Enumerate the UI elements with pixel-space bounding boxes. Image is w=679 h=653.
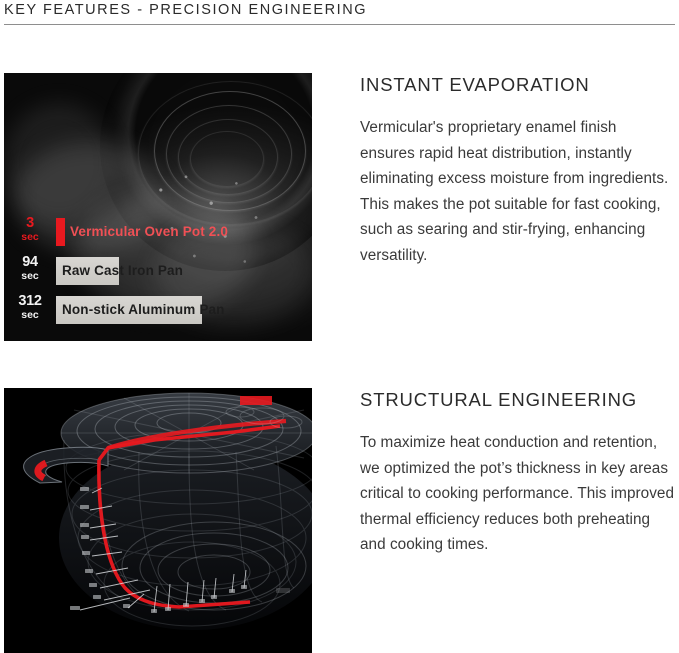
bar-label-aluminum: Non-stick Aluminum Pan — [62, 300, 225, 320]
bar-fill-vermicular — [56, 218, 65, 246]
feature-heading-structural-engineering: STRUCTURAL ENGINEERING — [360, 388, 675, 412]
cad-photo-backdrop — [4, 388, 312, 653]
page-title: KEY FEATURES - PRECISION ENGINEERING — [4, 1, 367, 19]
bar-value-unit: sec — [14, 310, 46, 321]
bar-row-aluminum: 312 sec Non-stick Aluminum Pan — [14, 294, 310, 328]
bar-track: Non-stick Aluminum Pan — [56, 296, 310, 324]
bar-label-vermicular: Vermicular Oven Pot 2.0 — [70, 222, 228, 242]
bar-value-unit: sec — [14, 232, 46, 243]
cad-wireframe-pot-diagram — [4, 388, 312, 653]
feature-body-instant-evaporation: Vermicular's proprietary enamel finish e… — [360, 115, 675, 269]
bar-value-aluminum: 312 sec — [14, 294, 46, 320]
feature-row-structural-engineering: STRUCTURAL ENGINEERING To maximize heat … — [0, 388, 679, 653]
bar-value-number: 94 — [14, 255, 46, 270]
feature-copy-structural-engineering: STRUCTURAL ENGINEERING To maximize heat … — [360, 388, 675, 558]
evaporation-time-bar-chart: 3 sec Vermicular Oven Pot 2.0 94 sec Raw… — [4, 213, 312, 335]
bar-value-number: 3 — [14, 216, 46, 231]
page-header: KEY FEATURES - PRECISION ENGINEERING — [4, 0, 675, 30]
bar-value-unit: sec — [14, 271, 46, 282]
bar-track: Vermicular Oven Pot 2.0 — [56, 218, 310, 246]
header-divider — [4, 24, 675, 25]
bar-value-number: 312 — [14, 294, 46, 309]
feature-copy-instant-evaporation: INSTANT EVAPORATION Vermicular's proprie… — [360, 73, 675, 269]
cad-wireframe-svg — [4, 388, 312, 653]
feature-row-instant-evaporation: 3 sec Vermicular Oven Pot 2.0 94 sec Raw… — [0, 73, 679, 341]
bar-value-vermicular: 3 sec — [14, 216, 46, 242]
feature-heading-instant-evaporation: INSTANT EVAPORATION — [360, 73, 675, 97]
steaming-pot-photo: 3 sec Vermicular Oven Pot 2.0 94 sec Raw… — [4, 73, 312, 341]
feature-body-structural-engineering: To maximize heat conduction and retentio… — [360, 430, 675, 558]
bar-label-cast-iron: Raw Cast Iron Pan — [62, 261, 183, 281]
red-marker-block — [240, 396, 272, 405]
bar-track: Raw Cast Iron Pan — [56, 257, 310, 285]
bar-row-vermicular: 3 sec Vermicular Oven Pot 2.0 — [14, 216, 310, 250]
bar-value-cast-iron: 94 sec — [14, 255, 46, 281]
bar-row-cast-iron: 94 sec Raw Cast Iron Pan — [14, 255, 310, 289]
